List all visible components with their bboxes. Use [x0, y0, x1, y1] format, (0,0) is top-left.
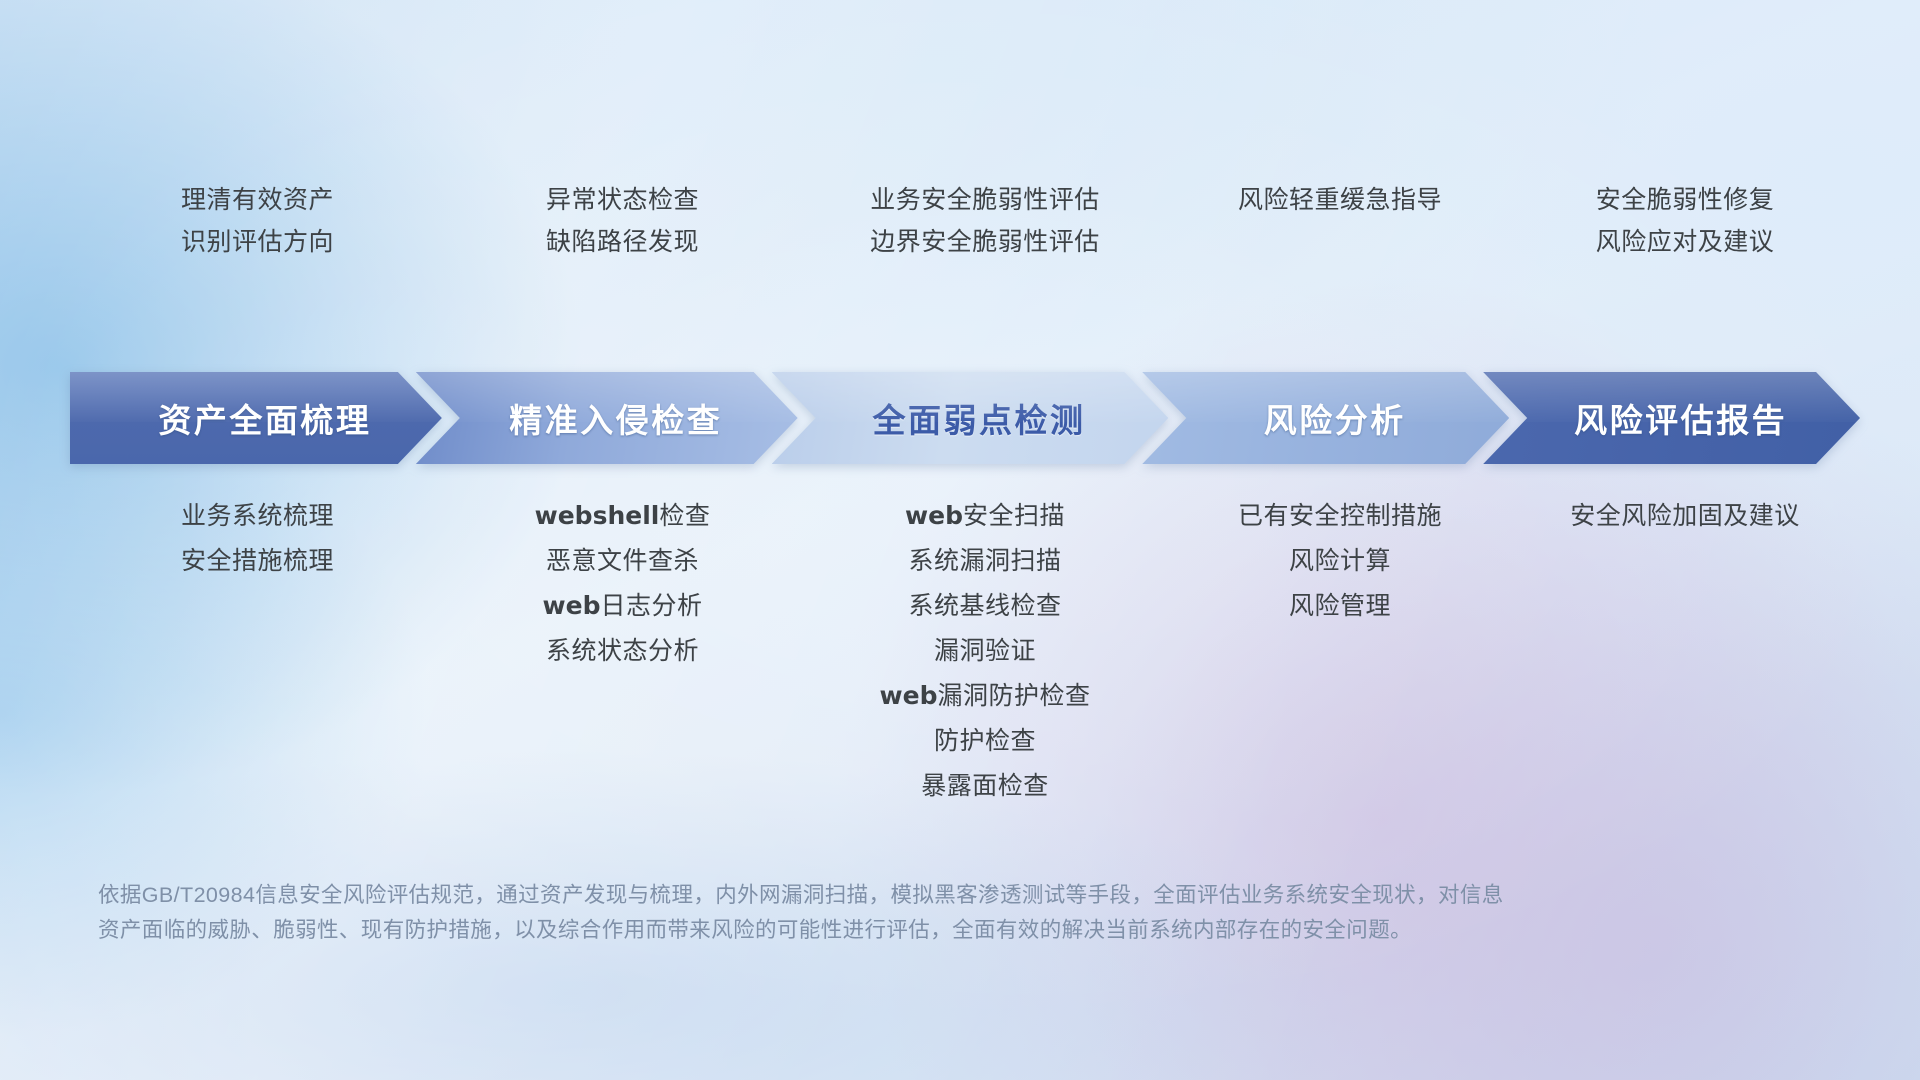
- list-item[interactable]: 恶意文件查杀: [546, 545, 699, 577]
- list-item[interactable]: 漏洞验证: [934, 635, 1036, 667]
- list-item[interactable]: 安全风险加固及建议: [1570, 500, 1800, 532]
- top-captions-assessment-report: 安全脆弱性修复风险应对及建议: [1510, 182, 1860, 292]
- caption-line: 异常状态检查: [546, 182, 699, 218]
- list-item[interactable]: 风险计算: [1289, 545, 1391, 577]
- list-item-label: 安全措施梳理: [181, 547, 334, 575]
- list-item-latin: web: [905, 501, 963, 530]
- list-item-label: 系统状态分析: [546, 637, 699, 665]
- stage-arrow-band: 资产全面梳理精准入侵检查全面弱点检测风险分析风险评估报告: [70, 372, 1860, 464]
- list-item-label: 检查: [659, 502, 710, 530]
- caption-line: 安全脆弱性修复: [1596, 182, 1775, 218]
- items-weakness-detection: web安全扫描系统漏洞扫描系统基线检查漏洞验证web漏洞防护检查防护检查暴露面检…: [800, 500, 1170, 802]
- list-item[interactable]: webshell检查: [535, 500, 711, 532]
- list-item[interactable]: 系统漏洞扫描: [908, 545, 1061, 577]
- list-item-label: 安全扫描: [963, 502, 1065, 530]
- list-item[interactable]: 系统基线检查: [908, 590, 1061, 622]
- caption-line: 业务安全脆弱性评估: [870, 182, 1100, 218]
- items-assessment-report: 安全风险加固及建议: [1510, 500, 1860, 802]
- list-item-label: 风险计算: [1289, 547, 1391, 575]
- items-asset-inventory: 业务系统梳理安全措施梳理: [70, 500, 445, 802]
- footer-line: 资产面临的威胁、脆弱性、现有防护措施，以及综合作用而带来风险的可能性进行评估，全…: [98, 913, 1728, 948]
- list-item[interactable]: 业务系统梳理: [181, 500, 334, 532]
- stage-title-risk-analysis: 风险分析: [1246, 394, 1406, 442]
- stage-title-intrusion-inspection: 精准入侵检查: [491, 394, 722, 442]
- list-item-label: 风险管理: [1289, 592, 1391, 620]
- items-risk-analysis: 已有安全控制措施风险计算风险管理: [1170, 500, 1510, 802]
- list-item[interactable]: 已有安全控制措施: [1238, 500, 1442, 532]
- caption-line: 识别评估方向: [181, 224, 334, 260]
- list-item[interactable]: 风险管理: [1289, 590, 1391, 622]
- list-item-label: 业务系统梳理: [181, 502, 334, 530]
- footer-description: 依据GB/T20984信息安全风险评估规范，通过资产发现与梳理，内外网漏洞扫描，…: [98, 878, 1728, 948]
- list-item[interactable]: web日志分析: [543, 590, 703, 622]
- caption-line: 边界安全脆弱性评估: [870, 224, 1100, 260]
- list-item[interactable]: 安全措施梳理: [181, 545, 334, 577]
- list-item-label: 安全风险加固及建议: [1570, 502, 1800, 530]
- list-item-label: 漏洞验证: [934, 637, 1036, 665]
- list-item-label: 已有安全控制措施: [1238, 502, 1442, 530]
- list-item-label: 系统基线检查: [908, 592, 1061, 620]
- footer-line: 依据GB/T20984信息安全风险评估规范，通过资产发现与梳理，内外网漏洞扫描，…: [98, 878, 1728, 913]
- caption-line: 风险应对及建议: [1596, 224, 1775, 260]
- stage-title-asset-inventory: 资产全面梳理: [140, 394, 371, 442]
- caption-line: 风险轻重缓急指导: [1238, 182, 1442, 218]
- list-item-latin: web: [880, 681, 938, 710]
- top-captions-weakness-detection: 业务安全脆弱性评估边界安全脆弱性评估: [800, 182, 1170, 292]
- list-item-latin: webshell: [535, 501, 660, 530]
- list-item[interactable]: web安全扫描: [905, 500, 1065, 532]
- top-captions-risk-analysis: 风险轻重缓急指导: [1170, 182, 1510, 292]
- list-item-label: 漏洞防护检查: [937, 682, 1090, 710]
- list-item-label: 防护检查: [934, 727, 1036, 755]
- process-diagram: 理清有效资产识别评估方向异常状态检查缺陷路径发现业务安全脆弱性评估边界安全脆弱性…: [0, 0, 1920, 1080]
- stage-arrow-assessment-report[interactable]: 风险评估报告: [1483, 372, 1860, 464]
- caption-line: 理清有效资产: [181, 182, 334, 218]
- list-item[interactable]: web漏洞防护检查: [880, 680, 1091, 712]
- list-item-label: 系统漏洞扫描: [908, 547, 1061, 575]
- caption-line: 缺陷路径发现: [546, 224, 699, 260]
- stage-arrow-weakness-detection[interactable]: 全面弱点检测: [772, 372, 1169, 464]
- top-caption-row: 理清有效资产识别评估方向异常状态检查缺陷路径发现业务安全脆弱性评估边界安全脆弱性…: [70, 182, 1860, 292]
- list-item-latin: web: [543, 591, 601, 620]
- stage-title-assessment-report: 风险评估报告: [1556, 394, 1787, 442]
- list-item-label: 暴露面检查: [921, 772, 1049, 800]
- stage-arrow-asset-inventory[interactable]: 资产全面梳理: [70, 372, 442, 464]
- top-captions-intrusion-inspection: 异常状态检查缺陷路径发现: [445, 182, 800, 292]
- list-item[interactable]: 防护检查: [934, 725, 1036, 757]
- list-item[interactable]: 系统状态分析: [546, 635, 699, 667]
- bottom-item-row: 业务系统梳理安全措施梳理webshell检查恶意文件查杀web日志分析系统状态分…: [70, 500, 1860, 802]
- items-intrusion-inspection: webshell检查恶意文件查杀web日志分析系统状态分析: [445, 500, 800, 802]
- stage-title-weakness-detection: 全面弱点检测: [854, 394, 1085, 442]
- stage-arrow-risk-analysis[interactable]: 风险分析: [1142, 372, 1509, 464]
- list-item-label: 日志分析: [600, 592, 702, 620]
- list-item-label: 恶意文件查杀: [546, 547, 699, 575]
- top-captions-asset-inventory: 理清有效资产识别评估方向: [70, 182, 445, 292]
- list-item[interactable]: 暴露面检查: [921, 770, 1049, 802]
- stage-arrow-intrusion-inspection[interactable]: 精准入侵检查: [416, 372, 798, 464]
